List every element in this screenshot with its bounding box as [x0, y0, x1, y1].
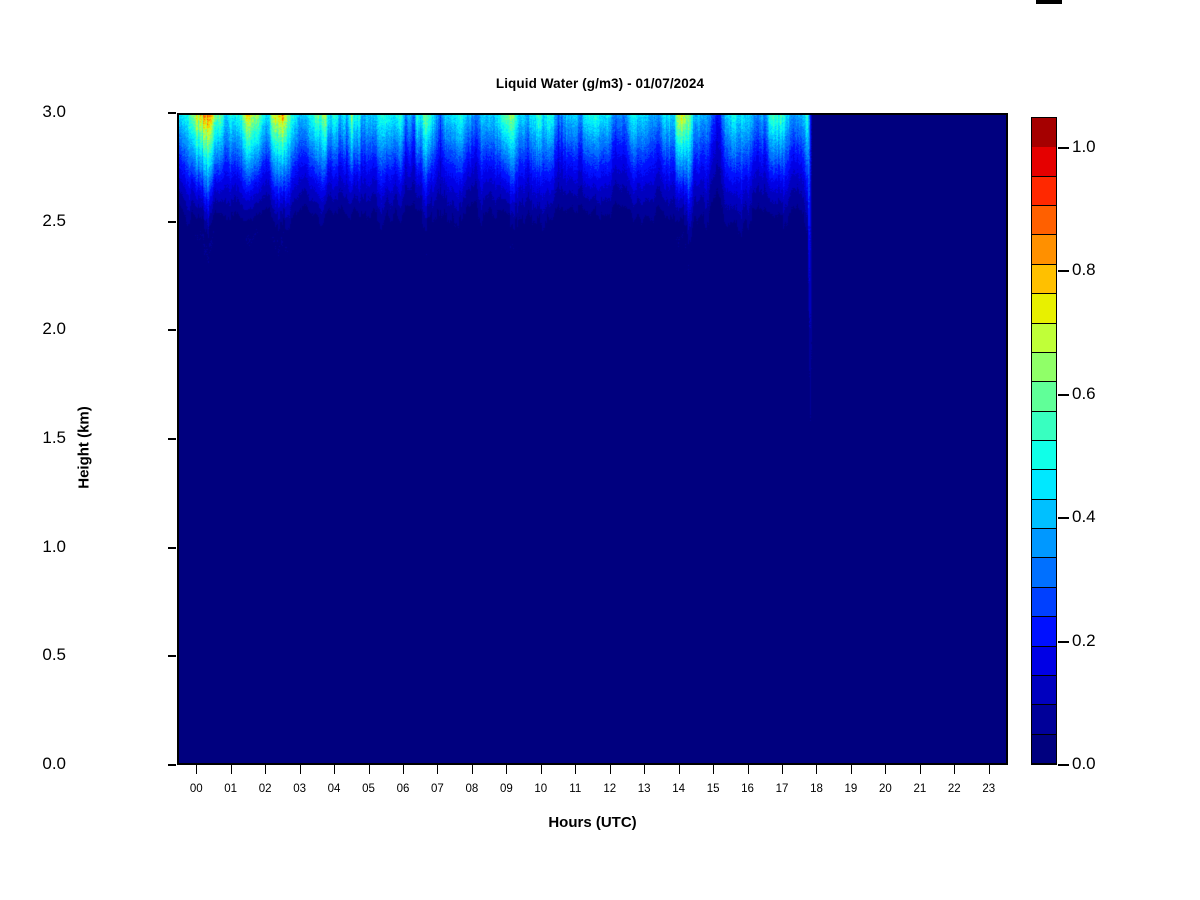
page-title: Liquid Water (g/m3) - 01/07/2024 [0, 76, 1200, 91]
colorbar-block [1032, 118, 1056, 147]
colorbar-block [1032, 617, 1056, 646]
x-tick-label: 01 [216, 783, 246, 795]
colorbar-block [1032, 147, 1056, 176]
x-tick-label: 20 [870, 783, 900, 795]
x-tick-mark [885, 765, 886, 774]
y-tick-mark [168, 329, 176, 331]
colorbar-tick-mark [1058, 764, 1069, 766]
colorbar-tick-mark [1058, 270, 1069, 272]
y-tick-mark [168, 221, 176, 223]
x-tick-mark [231, 765, 232, 774]
y-tick-label: 0.5 [42, 645, 66, 665]
y-tick-mark [168, 438, 176, 440]
x-tick-mark [334, 765, 335, 774]
colorbar-tick-mark [1058, 147, 1069, 149]
colorbar-tick-label: 0.4 [1072, 507, 1096, 527]
x-tick-label: 21 [905, 783, 935, 795]
clip-artifact-mark [1036, 0, 1062, 4]
x-tick-mark [472, 765, 473, 774]
x-tick-label: 09 [491, 783, 521, 795]
colorbar-block [1032, 177, 1056, 206]
colorbar-block [1032, 500, 1056, 529]
y-tick-label: 3.0 [42, 102, 66, 122]
x-tick-mark [920, 765, 921, 774]
x-tick-label: 23 [974, 783, 1004, 795]
colorbar-block [1032, 558, 1056, 587]
colorbar-block [1032, 382, 1056, 411]
x-tick-label: 19 [836, 783, 866, 795]
x-tick-label: 16 [733, 783, 763, 795]
y-axis-label: Height (km) [76, 348, 93, 548]
colorbar-block [1032, 588, 1056, 617]
colorbar-tick-label: 1.0 [1072, 137, 1096, 157]
colorbar-tick-label: 0.8 [1072, 260, 1096, 280]
x-tick-mark [954, 765, 955, 774]
x-tick-label: 02 [250, 783, 280, 795]
colorbar-block [1032, 353, 1056, 382]
colorbar-tick-label: 0.6 [1072, 384, 1096, 404]
heatmap-canvas [179, 115, 1006, 763]
colorbar-block [1032, 294, 1056, 323]
x-tick-mark [851, 765, 852, 774]
x-tick-label: 22 [939, 783, 969, 795]
colorbar-tick-label: 0.0 [1072, 754, 1096, 774]
colorbar-block [1032, 441, 1056, 470]
x-tick-mark [644, 765, 645, 774]
x-tick-mark [437, 765, 438, 774]
x-tick-label: 10 [526, 783, 556, 795]
x-tick-mark [369, 765, 370, 774]
colorbar-block [1032, 676, 1056, 705]
y-tick-label: 1.5 [42, 428, 66, 448]
colorbar-block [1032, 705, 1056, 734]
y-tick-label: 2.5 [42, 211, 66, 231]
x-tick-label: 18 [801, 783, 831, 795]
x-tick-mark [782, 765, 783, 774]
x-tick-label: 04 [319, 783, 349, 795]
y-tick-mark [168, 112, 176, 114]
colorbar-block [1032, 412, 1056, 441]
x-tick-label: 11 [560, 783, 590, 795]
x-tick-label: 05 [354, 783, 384, 795]
x-tick-label: 03 [285, 783, 315, 795]
x-tick-mark [679, 765, 680, 774]
x-tick-mark [610, 765, 611, 774]
x-tick-mark [506, 765, 507, 774]
x-tick-label: 12 [595, 783, 625, 795]
x-tick-mark [575, 765, 576, 774]
y-tick-mark [168, 764, 176, 766]
x-axis-label: Hours (UTC) [177, 814, 1008, 831]
x-tick-label: 06 [388, 783, 418, 795]
x-tick-mark [748, 765, 749, 774]
colorbar-block [1032, 265, 1056, 294]
colorbar-tick-mark [1058, 394, 1069, 396]
x-tick-mark [403, 765, 404, 774]
colorbar-block [1032, 324, 1056, 353]
x-tick-mark [265, 765, 266, 774]
colorbar-tick-mark [1058, 641, 1069, 643]
x-tick-label: 00 [181, 783, 211, 795]
x-tick-label: 14 [664, 783, 694, 795]
colorbar-block [1032, 470, 1056, 499]
colorbar-block [1032, 647, 1056, 676]
y-tick-label: 0.0 [42, 754, 66, 774]
y-tick-label: 2.0 [42, 319, 66, 339]
colorbar-tick-label: 0.2 [1072, 631, 1096, 651]
x-tick-mark [541, 765, 542, 774]
x-tick-mark [713, 765, 714, 774]
y-tick-label: 1.0 [42, 537, 66, 557]
heatmap-plot-area[interactable] [177, 113, 1008, 765]
colorbar-tick-mark [1058, 517, 1069, 519]
x-tick-label: 08 [457, 783, 487, 795]
figure-root: Liquid Water (g/m3) - 01/07/2024 0.00.51… [0, 0, 1200, 900]
x-tick-mark [989, 765, 990, 774]
x-tick-label: 07 [422, 783, 452, 795]
colorbar-block [1032, 235, 1056, 264]
x-tick-label: 13 [629, 783, 659, 795]
colorbar[interactable] [1031, 117, 1057, 765]
y-tick-mark [168, 547, 176, 549]
colorbar-block [1032, 206, 1056, 235]
y-tick-mark [168, 655, 176, 657]
x-tick-label: 15 [698, 783, 728, 795]
x-tick-label: 17 [767, 783, 797, 795]
colorbar-block [1032, 529, 1056, 558]
colorbar-block [1032, 735, 1056, 764]
x-tick-mark [816, 765, 817, 774]
x-tick-mark [300, 765, 301, 774]
x-tick-mark [196, 765, 197, 774]
